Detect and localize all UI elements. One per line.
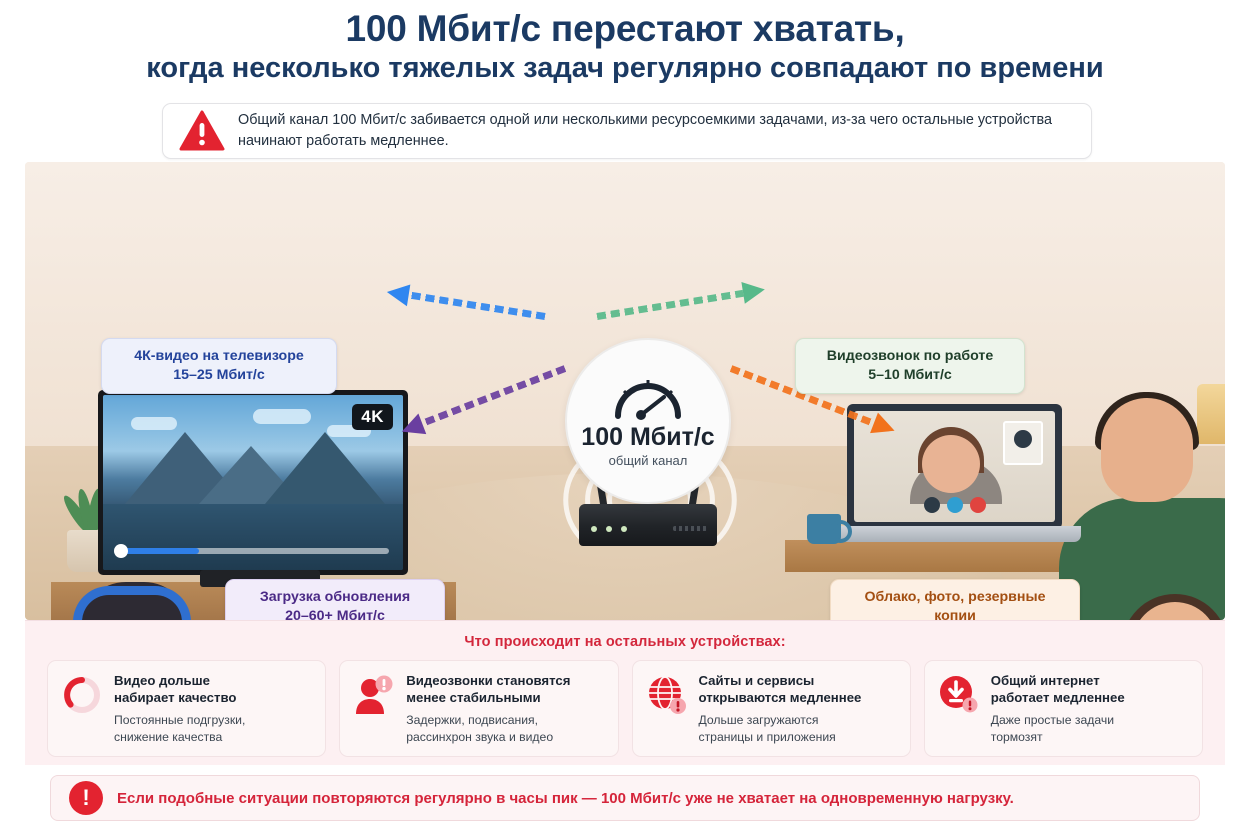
consequences-card-list: Видео дольшенабирает качество Постоянные… xyxy=(25,650,1225,757)
speedometer-icon xyxy=(611,375,685,421)
person-on-videocall xyxy=(1065,398,1225,598)
card1-title-line1: Видео дольше xyxy=(114,673,210,688)
loading-spinner-icon xyxy=(61,674,103,716)
videocall-controls[interactable] xyxy=(924,497,986,513)
tv-seek-bar[interactable] xyxy=(117,548,389,554)
consequence-card-video: Видео дольшенабирает качество Постоянные… xyxy=(47,660,326,757)
callout-cloud: Облако, фото, резервные копии 5–15 Мбит/… xyxy=(830,579,1080,620)
callout-tv-title: 4К-видео на телевизоре xyxy=(118,347,320,366)
callout-cloud-title: Облако, фото, резервные копии xyxy=(847,588,1063,620)
footer-banner: ! Если подобные ситуации повторяются рег… xyxy=(50,775,1200,821)
page-title-line1: 100 Мбит/с перестают хватать, xyxy=(20,8,1230,49)
card2-title-line1: Видеозвонки становятся xyxy=(406,673,570,688)
page-header: 100 Мбит/с перестают хватать, когда неск… xyxy=(0,0,1250,86)
gauge-speed-value: 100 Мбит/с xyxy=(581,423,714,452)
warning-banner-text: Общий канал 100 Мбит/с забивается одной … xyxy=(238,110,1075,152)
card4-title-line1: Общий интернет xyxy=(991,673,1100,688)
download-alert-icon xyxy=(938,674,980,716)
exclamation-circle-icon: ! xyxy=(69,781,103,815)
headphones-icon xyxy=(73,586,191,620)
total-bandwidth-gauge: 100 Мбит/с общий канал xyxy=(565,338,731,504)
callout-videocall-speed: 5–10 Мбит/с xyxy=(812,366,1008,385)
videocall-laptop-base xyxy=(831,526,1081,542)
callout-videocall-title: Видеозвонок по работе xyxy=(812,347,1008,366)
card2-desc-line2: рассинхрон звука и видео xyxy=(406,730,553,744)
page-title-line2: когда несколько тяжелых задач регулярно … xyxy=(20,51,1230,85)
callout-tv: 4К-видео на телевизоре 15–25 Мбит/с xyxy=(101,338,337,394)
card3-title-line2: открываются медленнее xyxy=(699,690,862,705)
card1-desc-line2: снижение качества xyxy=(114,730,222,744)
consequence-card-internet: Общий интернетработает медленнее Даже пр… xyxy=(924,660,1203,757)
callout-download-speed: 20–60+ Мбит/с xyxy=(242,607,428,620)
card4-title-line2: работает медленнее xyxy=(991,690,1125,705)
tv-4k-badge: 4K xyxy=(352,404,393,430)
card4-desc-line1: Даже простые задачи xyxy=(991,713,1114,727)
card1-desc-line1: Постоянные подгрузки, xyxy=(114,713,245,727)
globe-alert-icon xyxy=(646,674,688,716)
card2-desc-line1: Задержки, подвисания, xyxy=(406,713,538,727)
consequence-card-videocall: Видеозвонки становятсяменее стабильными … xyxy=(339,660,618,757)
tv-screen: 4K xyxy=(103,395,403,570)
callout-download: Загрузка обновления 20–60+ Мбит/с xyxy=(225,579,445,620)
card3-desc-line1: Дольше загружаются xyxy=(699,713,819,727)
person-alert-icon xyxy=(353,674,395,716)
card1-title-line2: набирает качество xyxy=(114,690,236,705)
person-with-phone xyxy=(1080,602,1225,620)
callout-tv-speed: 15–25 Мбит/с xyxy=(118,366,320,385)
coffee-mug xyxy=(807,514,841,544)
callout-download-title: Загрузка обновления xyxy=(242,588,428,607)
consequences-heading: Что происходит на остальных устройствах: xyxy=(25,621,1225,650)
callout-videocall: Видеозвонок по работе 5–10 Мбит/с xyxy=(795,338,1025,394)
videocall-self-view xyxy=(1003,421,1043,465)
warning-triangle-icon xyxy=(179,110,225,152)
consequence-card-websites: Сайты и сервисыоткрываются медленнее Дол… xyxy=(632,660,911,757)
card2-title-line2: менее стабильными xyxy=(406,690,540,705)
gauge-caption: общий канал xyxy=(609,453,688,468)
infographic-page: 100 Мбит/с перестают хватать, когда неск… xyxy=(0,0,1250,833)
consequences-section: Что происходит на остальных устройствах:… xyxy=(25,620,1225,765)
television: 4K xyxy=(98,390,408,575)
footer-text: Если подобные ситуации повторяются регул… xyxy=(117,790,1014,807)
illustration-scene: 4K Загрузка обновления... 45% 12,6 ГБ из… xyxy=(25,162,1225,620)
card3-title-line1: Сайты и сервисы xyxy=(699,673,815,688)
warning-banner: Общий канал 100 Мбит/с забивается одной … xyxy=(162,103,1092,159)
card3-desc-line2: страницы и приложения xyxy=(699,730,836,744)
card4-desc-line2: тормозят xyxy=(991,730,1043,744)
